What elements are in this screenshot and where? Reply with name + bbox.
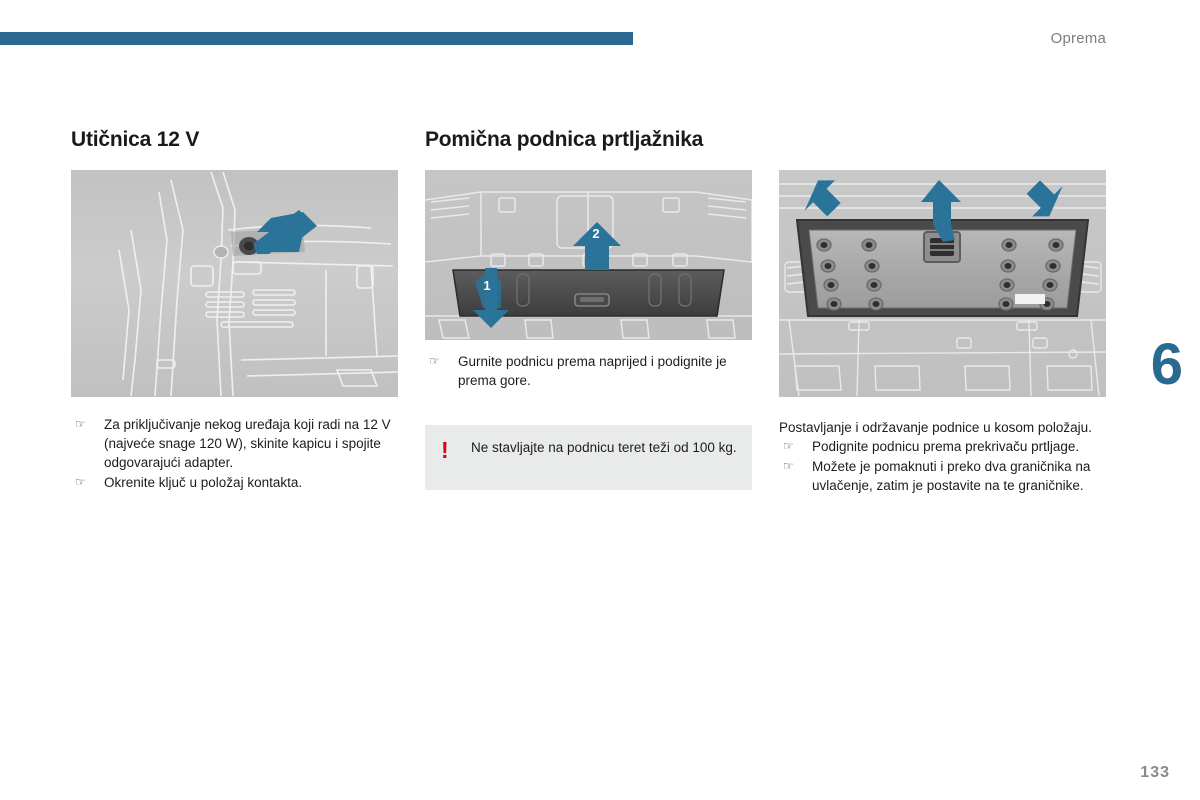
exclamation-mark-icon: ! [441, 439, 449, 462]
hand-pointer-bullet-icon: ☞ [429, 353, 440, 370]
body-text-boot-floor: ☞ Gurnite podnicu prema naprijed i podig… [425, 352, 755, 391]
list-item-text: Možete je pomaknuti i preko dva granični… [812, 459, 1090, 493]
hand-pointer-bullet-icon: ☞ [783, 438, 794, 455]
list-item: ☞ Gurnite podnicu prema naprijed i podig… [425, 352, 755, 390]
header-accent-bar [0, 32, 633, 45]
hand-pointer-bullet-icon: ☞ [75, 416, 86, 433]
boot-floor-panel-illustration: 2 1 [425, 170, 752, 340]
bullet-list-boot-floor: ☞ Gurnite podnicu prema naprijed i podig… [425, 352, 755, 390]
list-item: ☞ Za priključivanje nekog uređaja koji r… [71, 415, 405, 472]
list-item: ☞ Podignite podnicu prema prekrivaču prt… [779, 437, 1113, 456]
section-label: Oprema [1051, 30, 1106, 47]
list-item-text: Gurnite podnicu prema naprijed i podigni… [458, 354, 727, 388]
warning-text: Ne stavljajte na podnicu teret teži od 1… [471, 438, 740, 457]
bullet-list-inclined: ☞ Podignite podnicu prema prekrivaču prt… [779, 437, 1113, 495]
chapter-number: 6 [1151, 336, 1182, 394]
hand-pointer-bullet-icon: ☞ [75, 474, 86, 491]
list-item-text: Okrenite ključ u položaj kontakta. [104, 475, 302, 490]
arrow-label-1: 1 [483, 278, 490, 293]
body-text-12v-socket: ☞ Za priključivanje nekog uređaja koji r… [71, 415, 405, 493]
section-title-boot-floor: Pomična podnica prtljažnika [425, 128, 703, 152]
list-item: ☞ Okrenite ključ u položaj kontakta. [71, 473, 405, 492]
list-item: ☞ Možete je pomaknuti i preko dva granič… [779, 457, 1113, 495]
warning-box: ! Ne stavljajte na podnicu teret teži od… [425, 425, 752, 490]
boot-floor-inclined-illustration [779, 170, 1106, 397]
body-text-inclined-floor: Postavljanje i održavanje podnice u koso… [779, 418, 1113, 496]
figure-boot-floor-inclined [779, 170, 1106, 397]
list-item-text: Podignite podnicu prema prekrivaču prtlj… [812, 439, 1079, 454]
section-title-12v-socket: Utičnica 12 V [71, 128, 199, 152]
page-number: 133 [1140, 764, 1170, 782]
bullet-list-12v: ☞ Za priključivanje nekog uređaja koji r… [71, 415, 405, 492]
hand-pointer-bullet-icon: ☞ [783, 458, 794, 475]
figure-12v-socket [71, 170, 398, 397]
list-item-text: Za priključivanje nekog uređaja koji rad… [104, 417, 391, 470]
intro-paragraph: Postavljanje i održavanje podnice u koso… [779, 418, 1113, 437]
trunk-12v-socket-illustration [71, 170, 398, 397]
figure-boot-floor-panel: 2 1 [425, 170, 752, 340]
arrow-label-2: 2 [592, 226, 599, 241]
